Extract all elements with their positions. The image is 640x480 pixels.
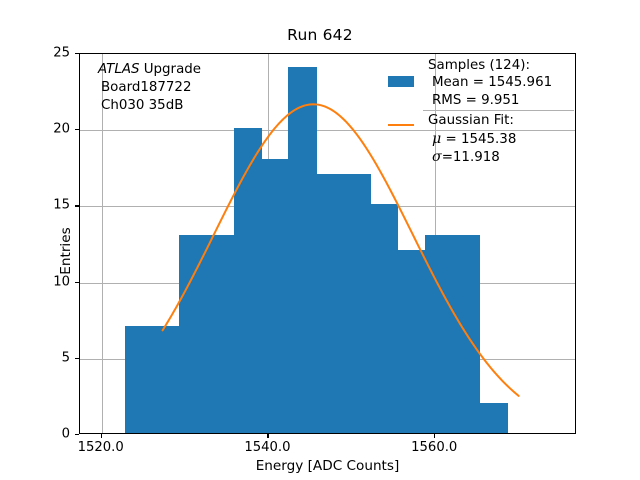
histogram-figure: Run 642 0510152025 Entries 1520.01540.01… [0,0,640,480]
legend-sigma-value: σ=11.918 [428,148,574,166]
legend-rms-value: RMS = 9.951 [428,92,574,109]
annotation-line-2: Board187722 [98,79,201,97]
legend-samples-header: Samples (124): [428,57,574,74]
x-tick-mark [434,434,435,438]
legend-entry-fit: Gaussian Fit: μ = 1545.38 σ=11.918 [428,112,574,166]
y-tick-mark [75,129,79,130]
y-tick-mark [75,358,79,359]
x-tick-label: 1540.0 [244,440,290,455]
y-tick-label: 0 [62,427,70,442]
x-axis-tick-labels: 1520.01540.01560.0 [79,440,576,460]
x-tick-label: 1560.0 [411,440,457,455]
upgrade-label: Upgrade [140,62,202,77]
legend-mean-value: Mean = 1545.961 [428,74,574,91]
legend-divider [423,110,574,111]
legend-fit-header: Gaussian Fit: [428,112,574,129]
y-tick-mark [75,205,79,206]
y-tick-label: 25 [53,46,70,61]
y-tick-label: 5 [62,350,70,365]
annotation-block: ATLAS Upgrade Board187722 Ch030 35dB [98,61,201,114]
legend-mu-value: μ = 1545.38 [428,130,574,148]
legend-entry-samples: Samples (124): Mean = 1545.961 RMS = 9.9… [428,57,574,109]
y-tick-mark [75,434,79,435]
annotation-line-1: ATLAS Upgrade [98,61,201,79]
page-title: Run 642 [0,26,640,44]
y-axis-label: Entries [58,171,74,331]
y-tick-mark [75,282,79,283]
atlas-label: ATLAS [98,62,140,77]
legend-line-fit-icon [388,124,414,126]
x-tick-mark [101,434,102,438]
x-tick-label: 1520.0 [78,440,124,455]
legend: Samples (124): Mean = 1545.961 RMS = 9.9… [428,57,574,167]
y-tick-mark [75,53,79,54]
annotation-line-3: Ch030 35dB [98,97,201,115]
x-axis-label: Energy [ADC Counts] [79,458,576,474]
legend-swatch-samples-icon [388,76,414,87]
x-tick-mark [267,434,268,438]
y-tick-label: 20 [53,122,70,137]
